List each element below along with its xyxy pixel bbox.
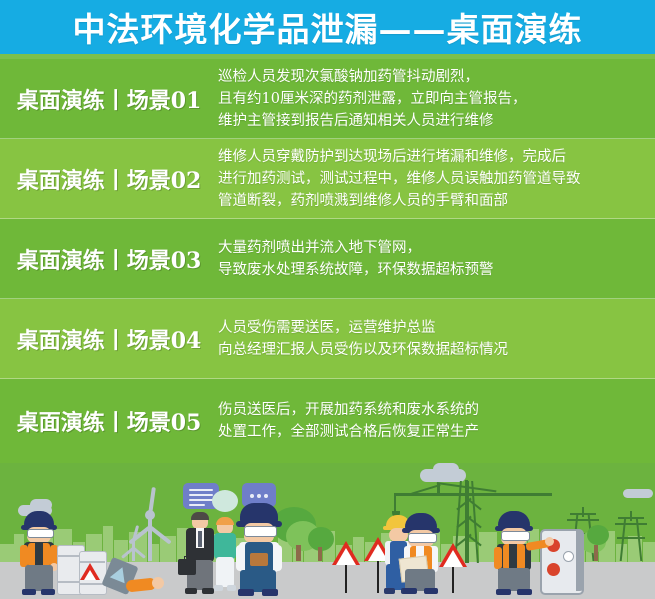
scenario-label: 桌面演练丨场景02 — [0, 163, 218, 195]
poster-root: 中法环境化学品泄漏——桌面演练 桌面演练丨场景01 巡检人员发现次氯酸钠加药管抖… — [0, 0, 655, 599]
briefcase-icon — [178, 559, 196, 575]
scenario-label: 桌面演练丨场景01 — [0, 83, 218, 115]
scenario-line: 处置工作，全部测试合格后恢复正常生产 — [218, 421, 639, 443]
scenario-line: 管道断裂，药剂喷溅到维修人员的手臂和面部 — [218, 190, 639, 212]
scenario-list: 桌面演练丨场景01 巡检人员发现次氯酸钠加药管抖动剧烈， 且有约10厘米深的药剂… — [0, 59, 655, 463]
scenario-row[interactable]: 桌面演练丨场景02 维修人员穿戴防护到达现场后进行堵漏和维修，完成后 进行加药测… — [0, 139, 655, 219]
scenario-row[interactable]: 桌面演练丨场景01 巡检人员发现次氯酸钠加药管抖动剧烈， 且有约10厘米深的药剂… — [0, 59, 655, 139]
spill-splash-icon — [152, 577, 164, 589]
cloud-icon — [433, 463, 459, 476]
panel-button-bottom[interactable] — [547, 563, 560, 576]
scenario-line: 巡检人员发现次氯酸钠加药管抖动剧烈， — [218, 66, 639, 88]
scenario-line: 伤员送医后，开展加药系统和废水系统的 — [218, 399, 639, 421]
scenario-line: 导致废水处理系统故障，环保数据超标预警 — [218, 259, 639, 281]
scenario-row[interactable]: 桌面演练丨场景04 人员受伤需要送医，运营维护总监 向总经理汇报人员受伤以及环保… — [0, 299, 655, 379]
scenario-label: 桌面演练丨场景03 — [0, 243, 218, 275]
scenario-line: 维修人员穿戴防护到达现场后进行堵漏和维修，完成后 — [218, 146, 639, 168]
scenario-line: 向总经理汇报人员受伤以及环保数据超标情况 — [218, 339, 639, 361]
scenario-line: 进行加药测试，测试过程中，维修人员误触加药管道导致 — [218, 168, 639, 190]
scenario-description: 维修人员穿戴防护到达现场后进行堵漏和维修，完成后 进行加药测试，测试过程中，维修… — [218, 146, 655, 212]
scenario-line: 人员受伤需要送医，运营维护总监 — [218, 317, 639, 339]
scenario-description: 人员受伤需要送医，运营维护总监 向总经理汇报人员受伤以及环保数据超标情况 — [218, 317, 655, 361]
scenario-line: 维护主管接到报告后通知相关人员进行维修 — [218, 110, 639, 132]
scenario-description: 大量药剂喷出并流入地下管网， 导致废水处理系统故障，环保数据超标预警 — [218, 237, 655, 281]
page-title: 中法环境化学品泄漏——桌面演练 — [73, 3, 583, 51]
scenario-label: 桌面演练丨场景04 — [0, 323, 218, 355]
chat-bubble-icon — [212, 490, 238, 512]
scenario-description: 巡检人员发现次氯酸钠加药管抖动剧烈， 且有约10厘米深的药剂泄露，立即向主管报告… — [218, 66, 655, 132]
cloud-icon — [623, 489, 653, 498]
scenario-row[interactable]: 桌面演练丨场景05 伤员送医后，开展加药系统和废水系统的 处置工作，全部测试合格… — [0, 379, 655, 463]
poster-header: 中法环境化学品泄漏——桌面演练 — [0, 0, 655, 54]
scenario-row[interactable]: 桌面演练丨场景03 大量药剂喷出并流入地下管网， 导致废水处理系统故障，环保数据… — [0, 219, 655, 299]
panel-indicator-icon — [563, 551, 574, 562]
illustration-banner — [0, 463, 655, 599]
scenario-line: 大量药剂喷出并流入地下管网， — [218, 237, 639, 259]
scenario-description: 伤员送医后，开展加药系统和废水系统的 处置工作，全部测试合格后恢复正常生产 — [218, 399, 655, 443]
scenario-line: 且有约10厘米深的药剂泄露，立即向主管报告， — [218, 88, 639, 110]
scenario-label: 桌面演练丨场景05 — [0, 405, 218, 437]
